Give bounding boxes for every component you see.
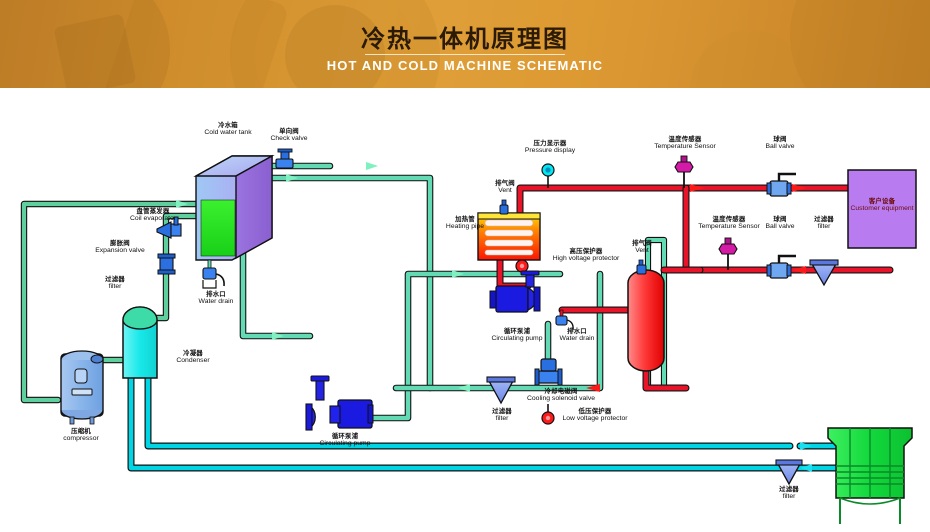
pressure-display[interactable]	[542, 164, 554, 188]
schematic-svg	[0, 88, 930, 532]
page-header: 冷热一体机原理图 HOT AND COLD MACHINE SCHEMATIC	[0, 0, 930, 88]
cold-water-tank[interactable]	[196, 156, 272, 260]
cooling-solenoid-valve[interactable]	[535, 359, 562, 385]
cooling-tower[interactable]	[828, 428, 912, 524]
customer-equipment[interactable]	[848, 170, 916, 248]
schematic-canvas: 冷水箱Cold water tank 盘管蒸发器Coil evaporator …	[0, 88, 930, 532]
chilled-water-loop	[226, 166, 664, 418]
heating-pipe[interactable]	[478, 213, 540, 260]
hot-water-loop	[500, 188, 890, 388]
high-voltage-protector[interactable]	[516, 260, 528, 272]
circulating-pump-cold[interactable]	[306, 376, 373, 430]
compressor[interactable]	[61, 351, 103, 424]
condenser[interactable]	[123, 307, 157, 378]
vent-heating[interactable]	[500, 200, 508, 214]
page-title-en: HOT AND COLD MACHINE SCHEMATIC	[0, 58, 930, 73]
temperature-sensor-top[interactable]	[675, 156, 693, 188]
low-voltage-protector[interactable]	[542, 404, 554, 424]
schematic-page: 冷热一体机原理图 HOT AND COLD MACHINE SCHEMATIC	[0, 0, 930, 532]
water-drain-tank[interactable]	[203, 260, 224, 288]
title-divider	[365, 54, 565, 55]
filter-tower[interactable]	[776, 460, 802, 484]
vent-hot-tank[interactable]	[637, 260, 646, 274]
hot-water-tank[interactable]	[628, 270, 664, 371]
page-title-cn: 冷热一体机原理图	[0, 19, 930, 54]
filter-left[interactable]	[158, 254, 175, 274]
temperature-sensor-mid[interactable]	[719, 238, 737, 270]
check-valve[interactable]	[276, 149, 293, 168]
